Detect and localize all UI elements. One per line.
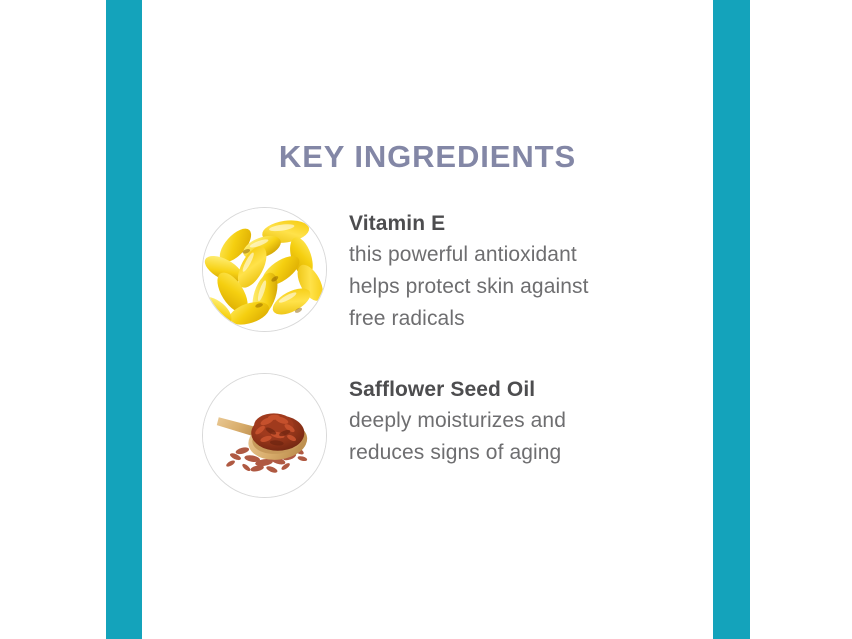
vitamin-e-thumbnail-wrap [202, 207, 327, 332]
safflower-text-column: Safflower Seed Oil deeply moisturizes an… [349, 373, 713, 469]
ingredient-title-vitamin-e: Vitamin E [349, 209, 713, 239]
description-line: reduces signs of aging [349, 437, 679, 469]
ingredient-title-safflower-seed-oil: Safflower Seed Oil [349, 375, 713, 405]
accent-bar-left [106, 0, 142, 639]
safflower-thumbnail [202, 373, 327, 498]
description-line: this powerful antioxidant [349, 239, 679, 271]
ingredient-description-safflower-seed-oil: deeply moisturizes and reduces signs of … [349, 405, 679, 469]
accent-bar-right [713, 0, 750, 639]
content-column: KEY INGREDIENTS [142, 0, 713, 639]
safflower-thumbnail-wrap [202, 373, 327, 498]
softgel-capsules-icon [203, 208, 326, 331]
ingredient-description-vitamin-e: this powerful antioxidant helps protect … [349, 239, 679, 335]
description-line: free radicals [349, 303, 679, 335]
vitamin-e-thumbnail [202, 207, 327, 332]
safflower-spoon-icon [203, 374, 326, 497]
ingredient-item-safflower-seed-oil: Safflower Seed Oil deeply moisturizes an… [142, 373, 713, 498]
description-line: deeply moisturizes and [349, 405, 679, 437]
key-ingredients-panel: KEY INGREDIENTS [0, 0, 852, 639]
description-line: helps protect skin against [349, 271, 679, 303]
ingredient-item-vitamin-e: Vitamin E this powerful antioxidant help… [142, 207, 713, 335]
page-title: KEY INGREDIENTS [142, 139, 713, 175]
vitamin-e-text-column: Vitamin E this powerful antioxidant help… [349, 207, 713, 335]
